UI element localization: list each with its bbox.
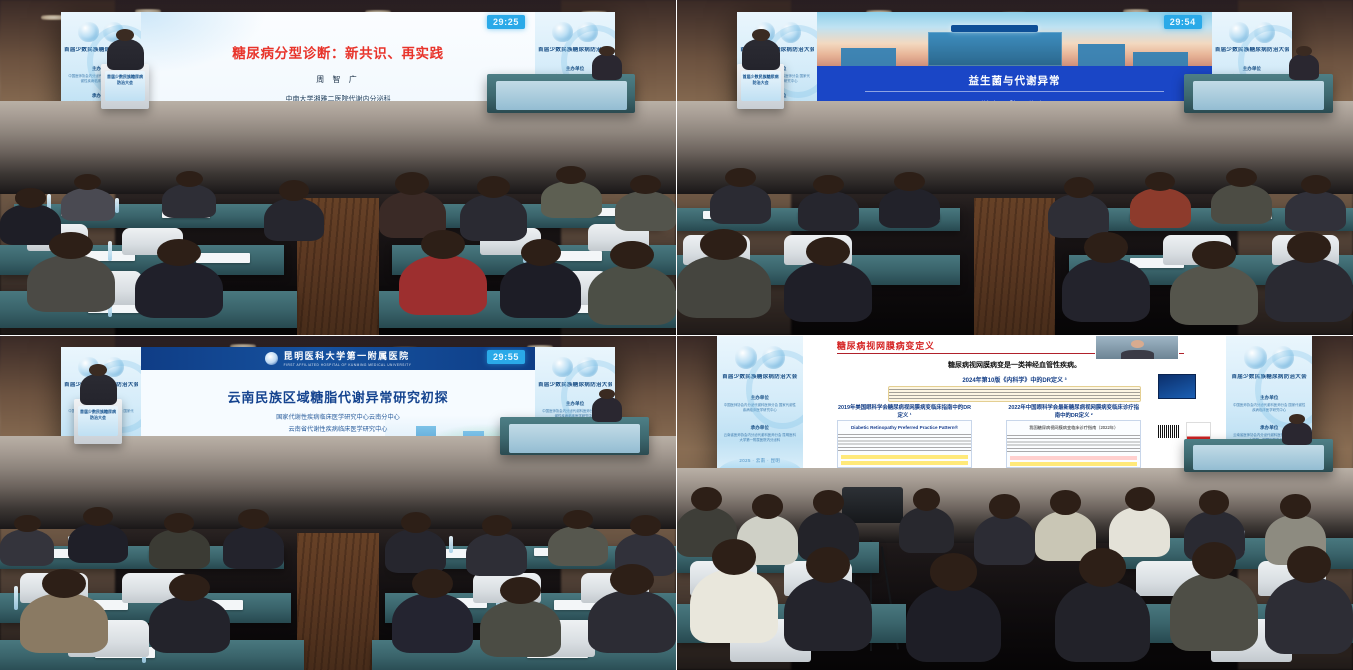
audience-member [392,593,473,653]
podium-sign-text: 首届少数民族糖尿病防治大会 [105,74,145,86]
host-label: 主办单位 [1233,395,1306,401]
audience-member [27,255,115,312]
host-block: 主办单位 中国医师协会内分泌代谢科医师分会 国家代谢性疾病临床医学研究中心 [724,395,797,413]
hospital-emblem-icon [265,352,278,365]
grid-divider-horizontal [0,335,1353,336]
audience-member [690,569,778,643]
coorganizer-block: 承办单位 云南省医师协会内分泌代谢科医师分会 昆明医科大学第一附属医院内分泌科 [724,425,797,443]
audience-member [162,184,216,218]
stage-area: 首届少数民族糖尿病防治大会 主办单位 中国医师协会内分泌代谢科医师分会 国家代谢… [0,335,676,529]
presenter-figure [107,39,144,70]
slide-hospital-photo [817,12,1211,66]
audience-member [1265,258,1353,322]
head-table [487,74,636,113]
audience-member [899,507,953,554]
slide-title: 云南民族区域糖脂代谢异常研究初探 [161,387,515,406]
highlight-bar [841,461,968,465]
audience-member [1211,184,1272,224]
audience-member [676,255,771,319]
video-wall-grid: 首届少数民族糖尿病防治大会 主办单位 中国医师协会内分泌代谢科医师分会 国家代谢… [0,0,1353,670]
podium: 首届少数民族糖尿病防治大会 [74,399,121,444]
audience-member [61,188,115,222]
head-table [500,417,649,456]
podium: 首届少数民族糖尿病防治大会 [101,64,148,109]
conference-banner-title: 首届少数民族糖尿病防治大会 [538,382,612,389]
podium-sign: 首届少数民族糖尿病防治大会 [105,71,145,100]
panel-top-left[interactable]: 首届少数民族糖尿病防治大会 主办单位 中国医师协会内分泌代谢科医师分会 国家代谢… [0,0,676,335]
head-table-banner [509,424,640,454]
slide-title: 糖尿病视网膜病变定义 [837,339,935,352]
audience-member [1265,577,1353,655]
hospital-building [928,32,1062,66]
water-bottle [115,198,119,213]
audience-member [1062,258,1150,322]
remote-speaker-head [1131,340,1144,348]
water-bottle [14,586,18,609]
panelist-figure [1289,54,1319,79]
audience-member [710,184,771,224]
skyline-building [1078,44,1125,66]
center-aisle-carpet [297,533,378,670]
audience-member [974,515,1035,566]
head-table-banner [1193,81,1324,111]
audience-member [784,261,872,321]
audience-member [135,261,223,318]
conference-logo [535,21,615,43]
presenter-figure [80,374,117,405]
audience-member [264,198,325,242]
highlight-bar [1010,456,1137,460]
conference-logo [1212,21,1292,43]
textbook-cover-image [1158,374,1196,399]
remote-speaker-video[interactable] [1095,335,1180,360]
countdown-timer: 29:54 [1164,15,1202,29]
podium-sign-text: 首届少数民族糖尿病防治大会 [78,409,118,421]
audience-member [500,261,581,318]
hospital-name-cn: 昆明医科大学第一附属医院 [284,349,412,362]
coorganizer-lines: 云南省医师协会内分泌代谢科医师分会 昆明医科大学第一附属医院内分泌科 [724,433,797,443]
conference-banner-title: 首届少数民族糖尿病防治大会 [1215,47,1289,54]
audience-member [480,600,561,657]
qr-code-icon [1158,425,1179,438]
panel-bottom-left[interactable]: 首届少数民族糖尿病防治大会 主办单位 中国医师协会内分泌代谢科医师分会 国家代谢… [0,335,676,670]
head-table [1184,439,1333,472]
audience-member [399,255,487,315]
hospital-name-block: 昆明医科大学第一附属医院 FIRST AFFILIATED HOSPITAL O… [284,349,412,367]
audience-member [798,191,859,231]
audience-area [676,476,1353,670]
projection-screen-bottom-right: 糖尿病视网膜病变定义 糖尿病视网膜病变是一类神经血管性疾病。 2024年第10版… [803,335,1226,485]
conference-banner-title: 首届少数民族糖尿病防治大会 [1229,374,1308,381]
audience-member [541,181,602,218]
head-table-banner [496,81,627,111]
water-bottle [449,536,453,553]
audience-member [784,577,872,651]
audience-member [460,194,528,241]
presenter-figure [742,39,779,70]
slide-rule [865,91,1165,92]
audience-area [0,503,676,670]
podium-sign: 首届少数民族糖尿病防治大会 [78,406,118,435]
audience-member [0,529,54,566]
countdown-timer: 29:55 [487,350,525,364]
water-bottle [108,241,112,261]
panelist-figure [592,397,622,422]
skyline-building [841,48,896,66]
podium: 首届少数民族糖尿病防治大会 [737,64,784,109]
slide-title: 糖尿病分型诊断：新共识、再实践 [165,42,511,62]
conference-logo [737,21,817,43]
slide-quote-box [888,386,1142,402]
head-table [1184,74,1333,113]
audience-member [906,585,1001,663]
panelist-figure [592,54,622,79]
guideline-left-title: Diabetic Retinopathy Preferred Practice … [838,421,971,432]
remote-speaker-body [1121,350,1154,360]
host-block: 主办单位 中国医师协会内分泌代谢科医师分会 国家代谢性疾病临床医学研究中心 [1233,395,1306,413]
guideline-right-body [1007,435,1140,454]
panel-top-right[interactable]: 首届少数民族糖尿病防治大会 主办单位 中国医师协会内分泌代谢科医师分会 国家代谢… [676,0,1353,335]
name-card [196,253,250,263]
conference-logo [535,356,615,378]
side-banner-left: 首届少数民族糖尿病防治大会 主办单位 中国医师协会内分泌代谢科医师分会 国家代谢… [717,335,803,485]
column-left-heading: 2019年美国眼科学会糖尿病视网膜病变临床指南中的DR定义 ¹ [837,404,972,420]
hospital-name-en: FIRST AFFILIATED HOSPITAL OF KUNMING MED… [284,363,412,367]
audience-member [548,526,609,566]
slide-hospital-header: 昆明医科大学第一附属医院 FIRST AFFILIATED HOSPITAL O… [141,347,535,370]
host-label: 主办单位 [724,395,797,401]
audience-member [1109,507,1170,558]
stage-area: 首届少数民族糖尿病防治大会 主办单位 中国医师协会内分泌代谢科医师分会 国家代谢… [676,0,1353,194]
skyline-building [1133,52,1188,66]
podium-sign: 首届少数民族糖尿病防治大会 [741,71,781,100]
slide-title: 益生菌与代谢异常 [817,73,1211,88]
guideline-left-body [838,434,971,453]
head-table-banner [1193,445,1324,470]
audience-member [1170,573,1258,651]
panel-bottom-right[interactable]: 首届少数民族糖尿病防治大会 主办单位 中国医师协会内分泌代谢科医师分会 国家代谢… [676,335,1353,670]
podium-sign-text: 首届少数民族糖尿病防治大会 [741,74,781,86]
center-aisle-carpet [974,198,1055,335]
slide-lead-statement: 糖尿病视网膜病变是一类神经血管性疾病。 [803,360,1226,370]
audience-member [223,526,284,570]
audience-member [20,593,108,653]
audience-member [1130,188,1191,228]
slide-dr-definition: 糖尿病视网膜病变定义 糖尿病视网膜病变是一类神经血管性疾病。 2024年第10版… [803,335,1226,485]
host-label: 主办单位 [1218,66,1286,72]
highlight-bar [1010,462,1137,466]
panelist-figure [1282,422,1312,445]
audience-member [385,529,446,573]
audience-member [588,265,676,325]
audience-member [615,191,676,231]
hospital-sign [951,25,1038,33]
audience-member [466,533,527,577]
audience-member [1170,265,1258,325]
guideline-panel-right: 我国糖尿病视网膜病变临床诊疗指南（2022年） [1006,420,1141,468]
guideline-panel-left: Diabetic Retinopathy Preferred Practice … [837,420,972,468]
countdown-timer: 29:25 [487,15,525,29]
audience-member [588,590,676,654]
conference-logo [717,345,803,369]
audience-member [1048,194,1109,238]
audience-member [68,523,129,563]
audience-area [0,168,676,336]
guideline-right-title: 我国糖尿病视网膜病变临床诊疗指南（2022年） [1007,421,1140,433]
coorganizer-label: 承办单位 [724,425,797,431]
stage-area: 首届少数民族糖尿病防治大会 主办单位 中国医师协会内分泌代谢科医师分会 国家代谢… [0,0,676,194]
audience-member [879,188,940,228]
audience-member [149,596,230,653]
host-lines: 中国医师协会内分泌代谢科医师分会 国家代谢性疾病临床医学研究中心 [1233,403,1306,413]
conference-logo [1226,345,1312,369]
conference-banner-title: 首届少数民族糖尿病防治大会 [720,374,799,381]
audience-member [1055,581,1150,663]
highlight-bar [841,455,968,459]
column-right-heading: 2022年中国眼科学会最新糖尿病视网膜病变临床诊疗指南中的DR定义 ² [1006,404,1141,420]
host-lines: 中国医师协会内分泌代谢科医师分会 国家代谢性疾病临床医学研究中心 [724,403,797,413]
audience-member [149,529,210,569]
audience-area [676,168,1353,336]
slide-speaker: 周 智 广 [141,74,535,85]
audience-member [1285,191,1346,231]
